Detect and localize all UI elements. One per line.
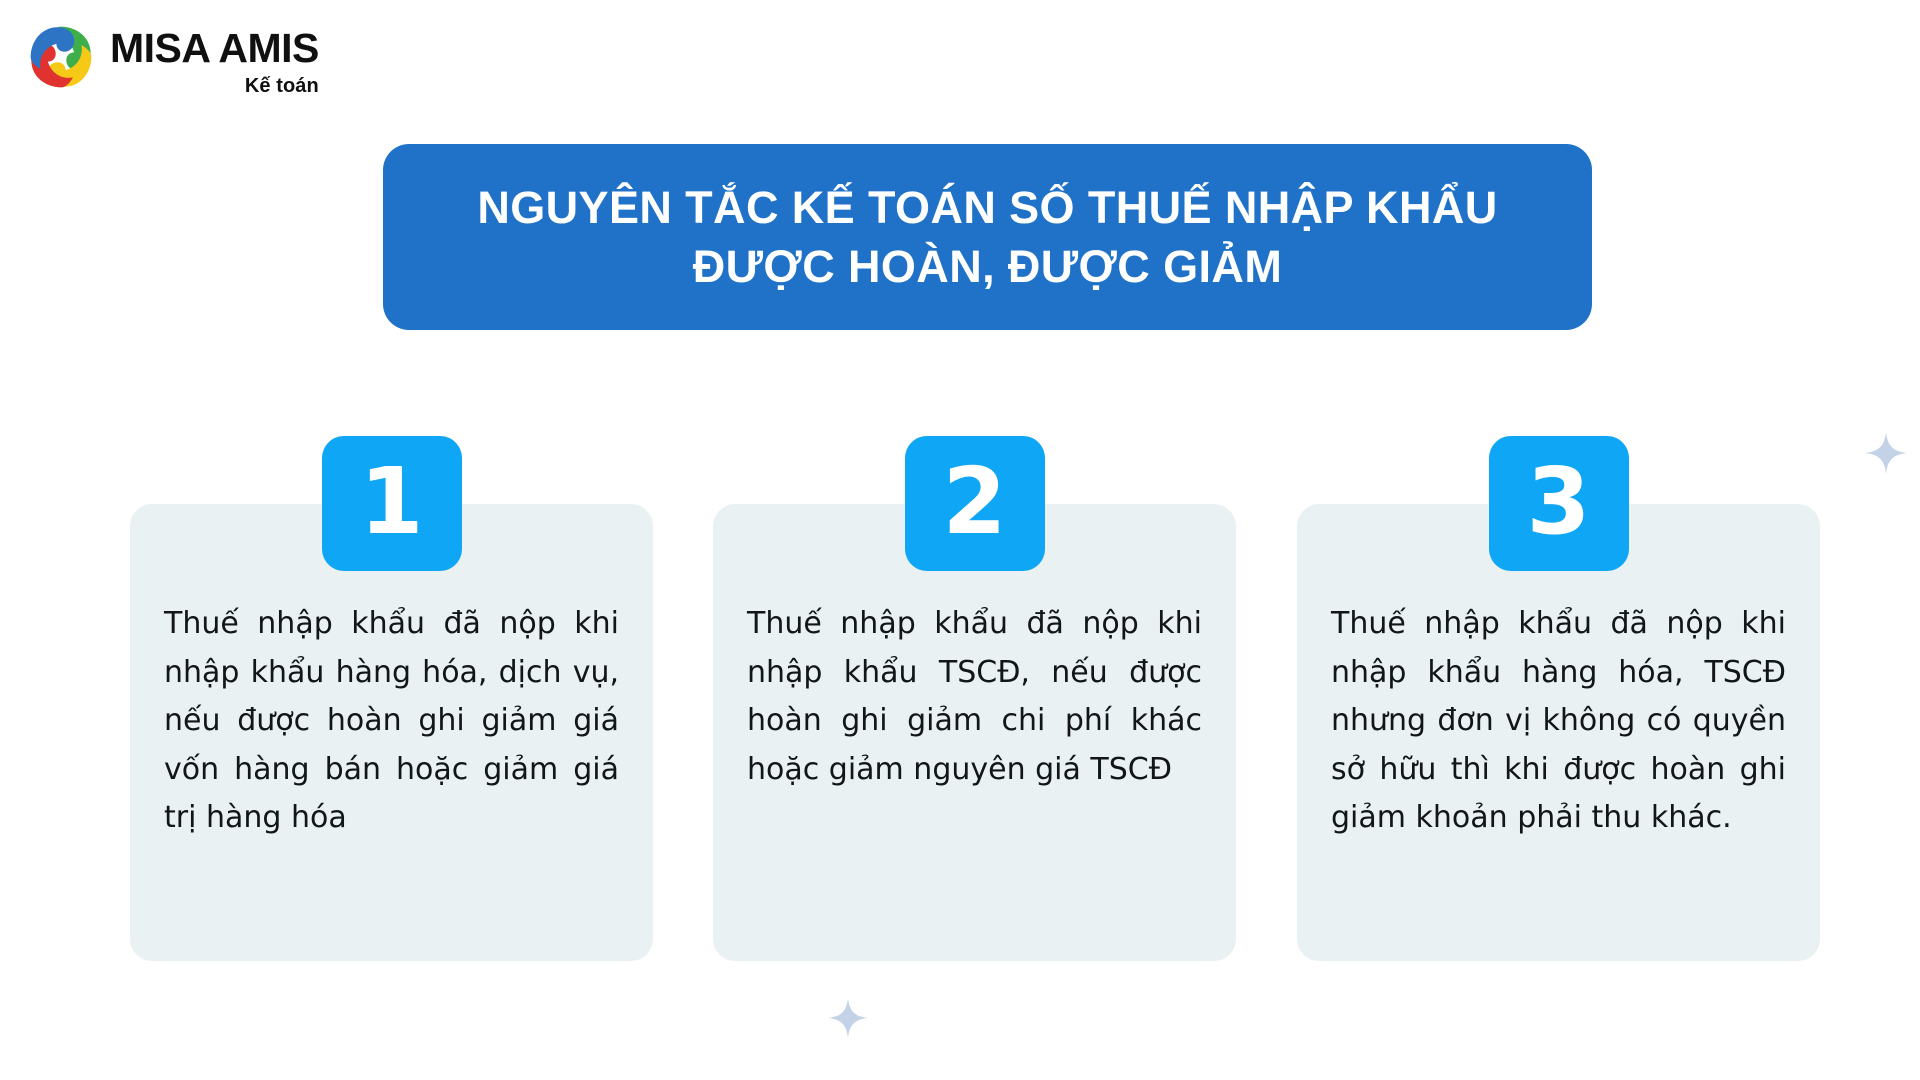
card-3-body: Thuế nhập khẩu đã nộp khi nhập khẩu hàng…: [1297, 504, 1820, 961]
brand-subtitle: Kế toán: [245, 76, 319, 96]
card-2-number-badge: 2: [905, 436, 1045, 571]
card-3-text: Thuế nhập khẩu đã nộp khi nhập khẩu hàng…: [1331, 600, 1786, 843]
brand-name: MISA AMIS: [110, 28, 319, 69]
page-title-line-2: ĐƯỢC HOÀN, ĐƯỢC GIẢM: [693, 237, 1282, 296]
card-2-number: 2: [942, 456, 1006, 548]
card-2-text: Thuế nhập khẩu đã nộp khi nhập khẩu TSCĐ…: [747, 600, 1202, 794]
title-banner: NGUYÊN TẮC KẾ TOÁN SỐ THUẾ NHẬP KHẨU ĐƯỢ…: [383, 144, 1592, 330]
misa-pinwheel-logo-icon: [28, 24, 94, 90]
brand-wordmark: MISA AMIS Kế toán: [110, 22, 319, 96]
card-1-number-badge: 1: [322, 436, 462, 571]
card-1-number: 1: [359, 456, 423, 548]
card-3: Thuế nhập khẩu đã nộp khi nhập khẩu hàng…: [1297, 436, 1820, 961]
card-3-number-badge: 3: [1489, 436, 1629, 571]
cards-row: Thuế nhập khẩu đã nộp khi nhập khẩu hàng…: [0, 436, 1920, 976]
brand-logo: MISA AMIS Kế toán: [28, 22, 319, 96]
card-3-number: 3: [1526, 456, 1590, 548]
card-1-body: Thuế nhập khẩu đã nộp khi nhập khẩu hàng…: [130, 504, 653, 961]
sparkle-icon: [828, 998, 868, 1038]
card-2: Thuế nhập khẩu đã nộp khi nhập khẩu TSCĐ…: [713, 436, 1236, 961]
page-title-line-1: NGUYÊN TẮC KẾ TOÁN SỐ THUẾ NHẬP KHẨU: [477, 178, 1497, 237]
card-1: Thuế nhập khẩu đã nộp khi nhập khẩu hàng…: [130, 436, 653, 961]
card-1-text: Thuế nhập khẩu đã nộp khi nhập khẩu hàng…: [164, 600, 619, 843]
infographic-canvas: MISA AMIS Kế toán NGUYÊN TẮC KẾ TOÁN SỐ …: [0, 0, 1920, 1080]
card-2-body: Thuế nhập khẩu đã nộp khi nhập khẩu TSCĐ…: [713, 504, 1236, 961]
